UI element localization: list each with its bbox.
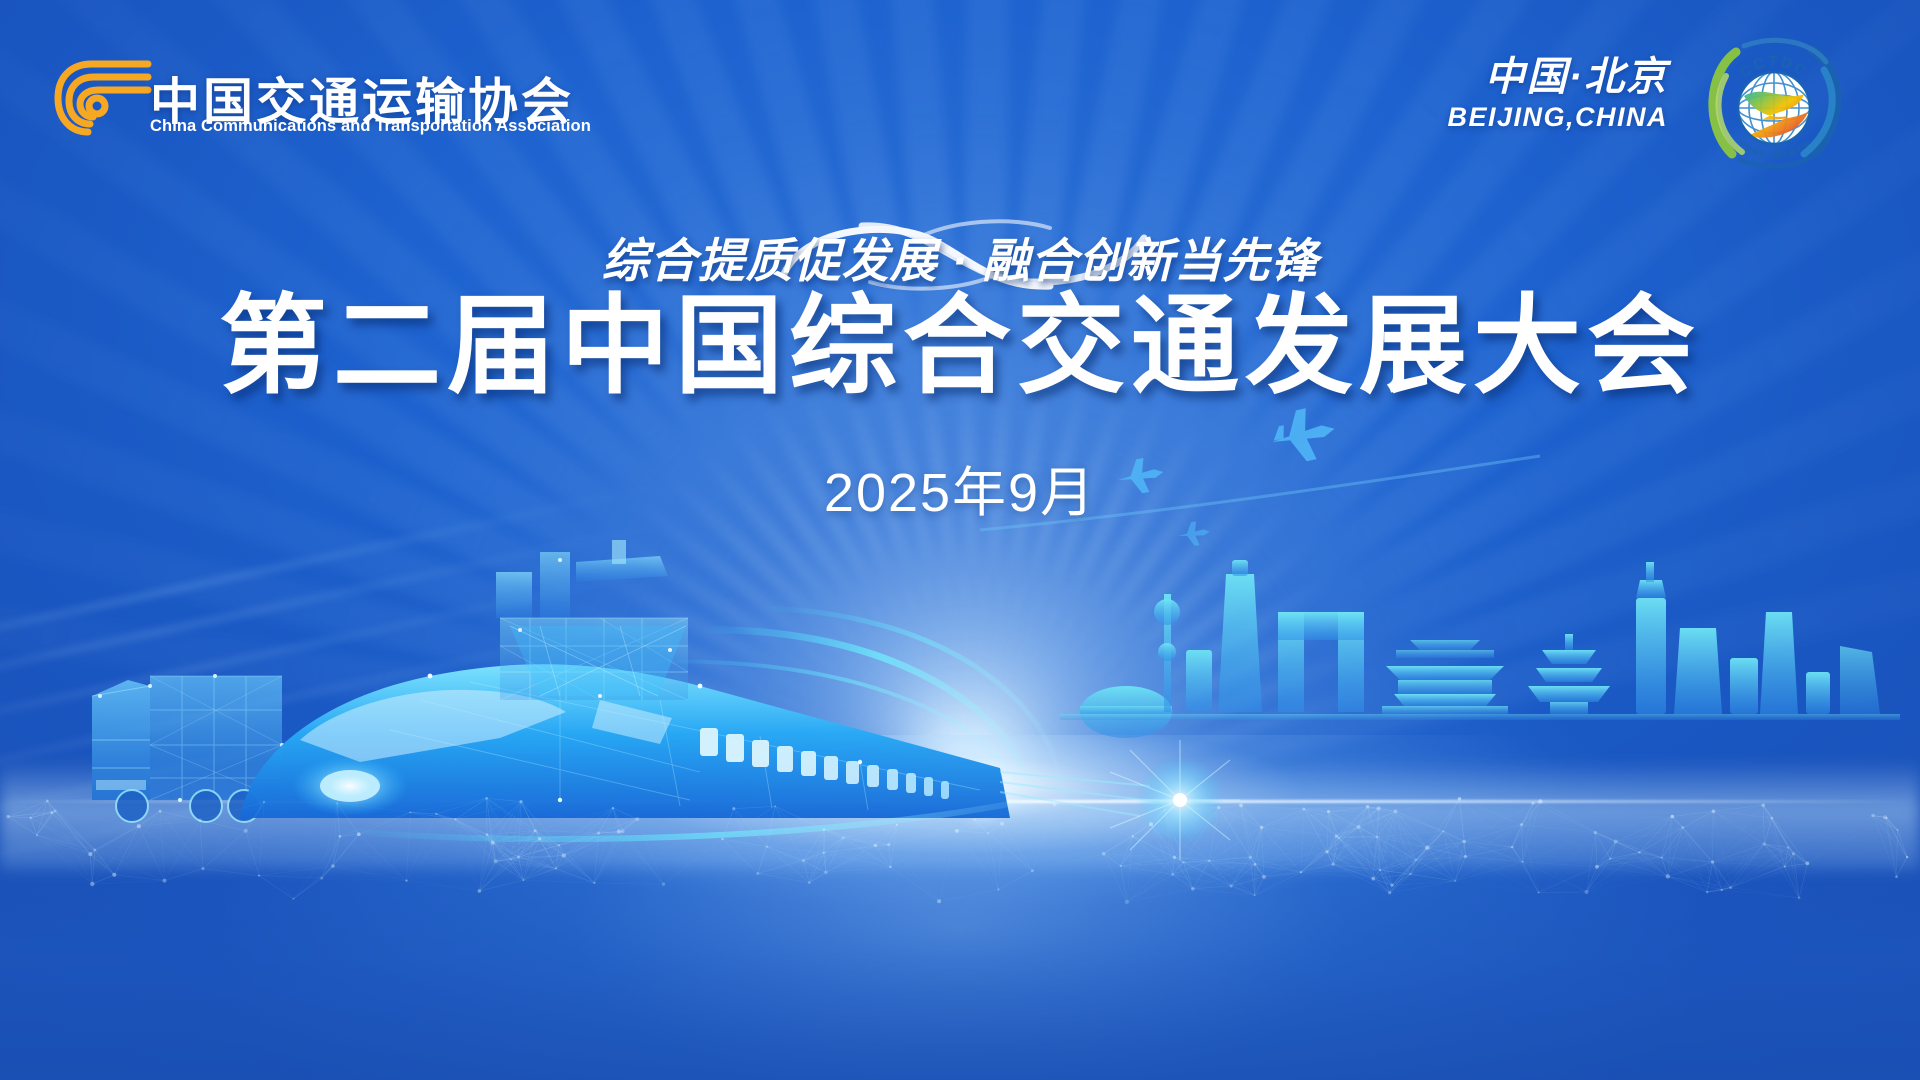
container-port-ship — [496, 540, 688, 700]
cctv-headquarters — [1278, 612, 1364, 712]
page-title: 第二届中国综合交通发展大会 — [0, 286, 1920, 407]
event-date: 2025年9月 — [0, 448, 1920, 527]
forbidden-city-hall — [1382, 640, 1508, 714]
cctdc-globe-emblem: CCTDC 中国综合交通发展大会 — [1700, 28, 1848, 176]
location-city-en: BEIJING,CHINA — [1447, 102, 1668, 133]
location-block: 中国·北京 BEIJING,CHINA — [1447, 56, 1668, 133]
bottom-fade — [0, 860, 1920, 1080]
temple-of-heaven — [1528, 634, 1610, 714]
ccta-spiral-logo — [52, 58, 152, 146]
location-city-cn: 中国·北京 — [1447, 56, 1668, 98]
association-name-en: China Communications and Transportation … — [150, 117, 591, 136]
beijing-skyline — [1060, 560, 1900, 738]
china-zun-tower — [1218, 574, 1262, 712]
conference-tagline: 综合提质促发展 · 融合创新当先锋 — [0, 222, 1920, 291]
poster-canvas: 中国交通运输协会 China Communications and Transp… — [0, 0, 1920, 1080]
